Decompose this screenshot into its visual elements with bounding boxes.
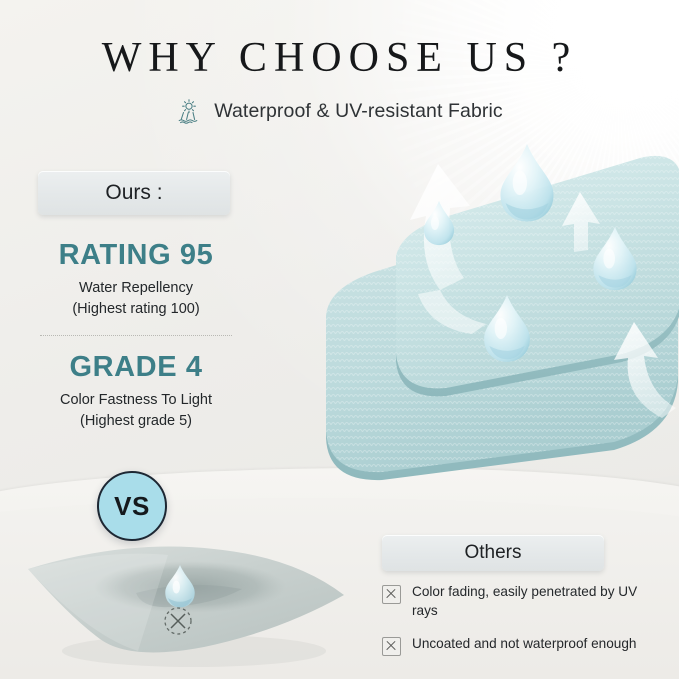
metric-rating-caption-line: Water Repellency [20, 278, 252, 299]
ours-label-text: Ours : [105, 181, 162, 205]
subtitle-text: Waterproof & UV-resistant Fabric [214, 100, 503, 123]
metric-grade-caption: Color Fastness To Light (Highest grade 5… [20, 390, 252, 431]
versus-badge-label: VS [114, 491, 150, 522]
metric-grade-title: GRADE 4 [20, 352, 252, 382]
metric-rating-caption: Water Repellency (Highest rating 100) [20, 278, 252, 319]
others-label-chip: Others [382, 535, 604, 571]
others-label-text: Others [464, 542, 521, 564]
versus-badge: VS [97, 471, 167, 541]
ours-label-chip: Ours : [38, 171, 230, 215]
page-title: WHY CHOOSE US ? [0, 34, 679, 82]
list-item: Color fading, easily penetrated by UV ra… [382, 583, 644, 621]
x-checkbox-icon [382, 637, 401, 656]
list-item: Uncoated and not waterproof enough [382, 635, 644, 656]
infographic-canvas: WHY CHOOSE US ? [0, 0, 679, 679]
metric-rating-title: RATING 95 [20, 240, 252, 270]
others-drawback-list: Color fading, easily penetrated by UV ra… [382, 583, 644, 670]
metric-grade-caption-line: Color Fastness To Light [20, 390, 252, 411]
sun-over-water-icon [176, 98, 202, 124]
list-item-label: Uncoated and not waterproof enough [412, 635, 636, 654]
list-item-label: Color fading, easily penetrated by UV ra… [412, 583, 644, 621]
metric-rating: RATING 95 Water Repellency (Highest rati… [20, 240, 252, 320]
x-checkbox-icon [382, 585, 401, 604]
metrics-dotted-separator [40, 335, 232, 336]
metric-rating-note: (Highest rating 100) [20, 299, 252, 320]
metric-grade: GRADE 4 Color Fastness To Light (Highest… [20, 352, 252, 432]
subtitle-row: Waterproof & UV-resistant Fabric [0, 98, 679, 124]
metric-grade-note: (Highest grade 5) [20, 411, 252, 432]
